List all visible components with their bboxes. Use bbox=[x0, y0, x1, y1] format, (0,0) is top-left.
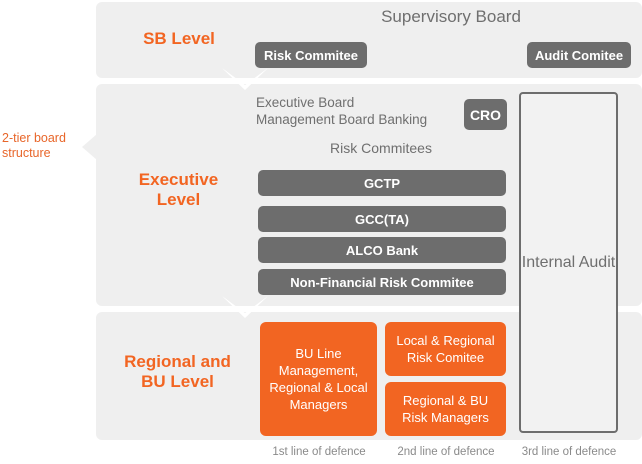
committee-bar-non-financial-risk[interactable]: Non-Financial Risk Commitee bbox=[258, 269, 506, 295]
cro-badge[interactable]: CRO bbox=[464, 99, 507, 130]
supervisory-board-heading: Supervisory Board bbox=[260, 7, 642, 27]
line-of-defence-label-3: 3rd line of defence bbox=[518, 446, 620, 458]
internal-audit-box[interactable]: Internal Audit bbox=[519, 92, 618, 433]
executive-board-heading: Executive Board Management Board Banking bbox=[256, 94, 462, 128]
local-regional-risk-committee-box[interactable]: Local & Regional Risk Comitee bbox=[385, 322, 506, 376]
org-chart-diagram: 2-tier board structure SB Level Executiv… bbox=[0, 0, 642, 464]
committee-bar-alco-bank[interactable]: ALCO Bank bbox=[258, 237, 506, 263]
audit-committee-button[interactable]: Audit Comitee bbox=[527, 42, 631, 68]
bu-line-management-box[interactable]: BU Line Management, Regional & Local Man… bbox=[260, 322, 377, 436]
level-title-executive: Executive Level bbox=[96, 170, 261, 210]
committee-bar-gcc-ta[interactable]: GCC(TA) bbox=[258, 206, 506, 232]
risk-committees-subheading: Risk Commitees bbox=[256, 140, 506, 156]
line-of-defence-label-1: 1st line of defence bbox=[260, 446, 378, 458]
line-of-defence-label-2: 2nd line of defence bbox=[385, 446, 507, 458]
side-caption: 2-tier board structure bbox=[2, 131, 90, 161]
level-title-regional: Regional and BU Level bbox=[90, 352, 265, 392]
level-title-sb: SB Level bbox=[104, 29, 254, 49]
risk-committee-button[interactable]: Risk Commitee bbox=[255, 42, 367, 68]
committee-bar-gctp[interactable]: GCTP bbox=[258, 170, 506, 196]
regional-bu-risk-managers-box[interactable]: Regional & BU Risk Managers bbox=[385, 382, 506, 436]
